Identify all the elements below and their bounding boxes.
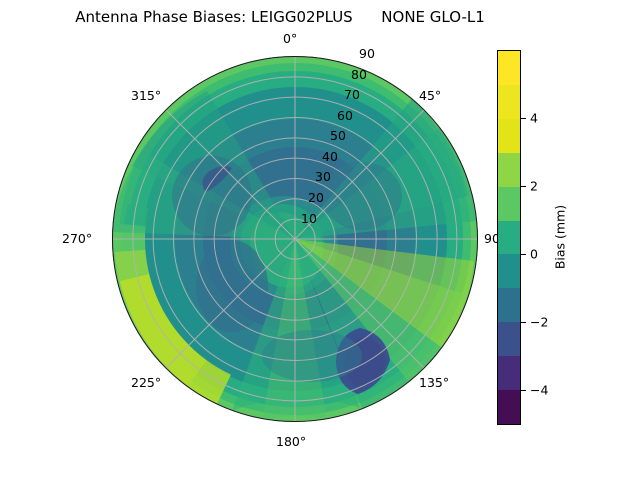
- colorbar-tick: [521, 186, 526, 187]
- angular-tick-0: 0°: [283, 31, 297, 46]
- angular-tick-45: 45°: [419, 88, 441, 103]
- page-title: Antenna Phase Biases: LEIGG02PLUS NONE G…: [0, 8, 560, 26]
- colorbar-ticklabel-neg4: −4: [530, 383, 548, 398]
- colorbar: −4 −2 0 2 4: [497, 50, 521, 425]
- colorbar-tick: [521, 118, 526, 119]
- angular-tick-315: 315°: [131, 88, 161, 103]
- colorbar-segment: [498, 221, 520, 255]
- colorbar-gradient: [497, 50, 521, 425]
- colorbar-segment: [498, 390, 520, 424]
- radial-tick-40: 40: [322, 149, 338, 164]
- matplotlib-figure: Antenna Phase Biases: LEIGG02PLUS NONE G…: [0, 0, 640, 480]
- radial-tick-60: 60: [337, 108, 353, 123]
- colorbar-segment: [498, 85, 520, 119]
- colorbar-ticklabel-neg2: −2: [530, 315, 548, 330]
- colorbar-segment: [498, 356, 520, 390]
- radial-tick-20: 20: [308, 190, 324, 205]
- colorbar-ticklabel-zero: 0: [530, 247, 538, 262]
- radial-tick-50: 50: [330, 128, 346, 143]
- radial-tick-90: 90: [359, 46, 375, 61]
- colorbar-segment: [498, 51, 520, 85]
- colorbar-tick: [521, 390, 526, 391]
- angular-tick-225: 225°: [131, 375, 161, 390]
- colorbar-tick: [521, 322, 526, 323]
- polar-data-area: [112, 56, 478, 422]
- colorbar-ticklabel-pos2: 2: [530, 179, 538, 194]
- colorbar-axis-label: Bias (mm): [553, 205, 568, 269]
- colorbar-segment: [498, 322, 520, 356]
- colorbar-tick: [521, 254, 526, 255]
- radial-tick-30: 30: [315, 169, 331, 184]
- colorbar-segment: [498, 288, 520, 322]
- radial-tick-80: 80: [351, 67, 367, 82]
- colorbar-ticklabel-pos4: 4: [530, 111, 538, 126]
- colorbar-segment: [498, 153, 520, 187]
- angular-tick-270: 270°: [62, 231, 92, 246]
- angular-tick-135: 135°: [419, 375, 449, 390]
- angular-tick-180: 180°: [276, 434, 306, 449]
- radial-tick-10: 10: [301, 211, 317, 226]
- colorbar-segment: [498, 254, 520, 288]
- colorbar-segment: [498, 119, 520, 153]
- radial-tick-70: 70: [344, 87, 360, 102]
- polar-plot: 10 20 30 40 50 60 70 80 90: [112, 56, 478, 422]
- colorbar-segment: [498, 187, 520, 221]
